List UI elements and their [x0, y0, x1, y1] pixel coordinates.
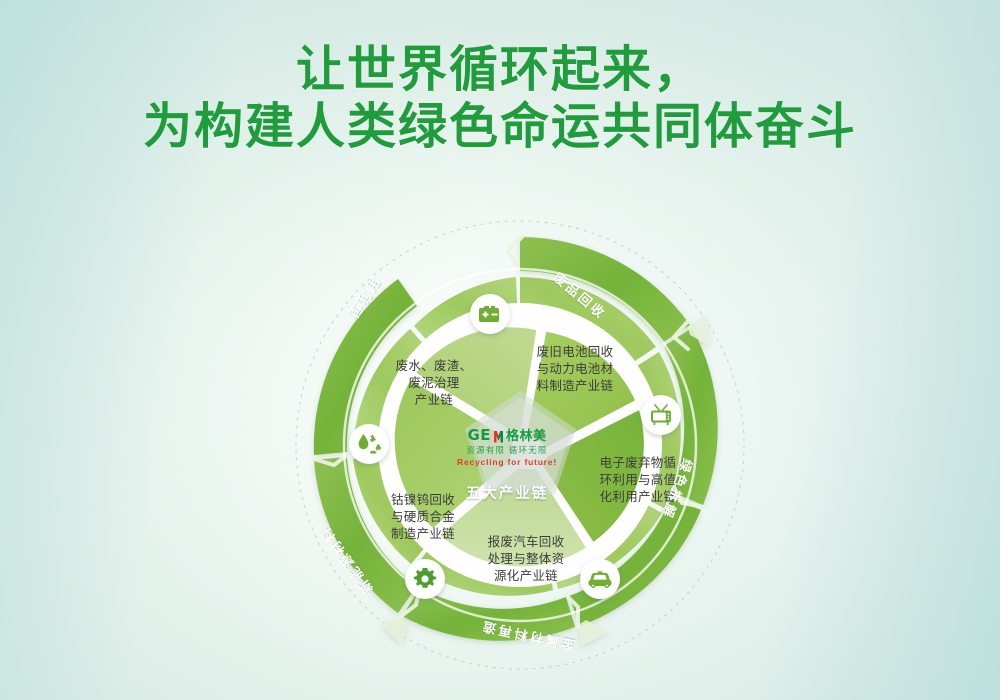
gear-icon[interactable] — [405, 559, 445, 599]
title-line-1: 让世界循环起来， — [0, 42, 1000, 99]
page-title: 让世界循环起来， 为构建人类绿色命运共同体奋斗 — [0, 42, 1000, 156]
tv-icon[interactable] — [641, 395, 681, 435]
title-line-2: 为构建人类绿色命运共同体奋斗 — [0, 99, 1000, 156]
car-icon[interactable] — [580, 559, 620, 599]
battery-icon[interactable] — [470, 294, 510, 334]
water-recycle-icon[interactable] — [349, 424, 389, 464]
infographic-canvas: 让世界循环起来， 为构建人类绿色命运共同体奋斗 — [0, 0, 1000, 700]
